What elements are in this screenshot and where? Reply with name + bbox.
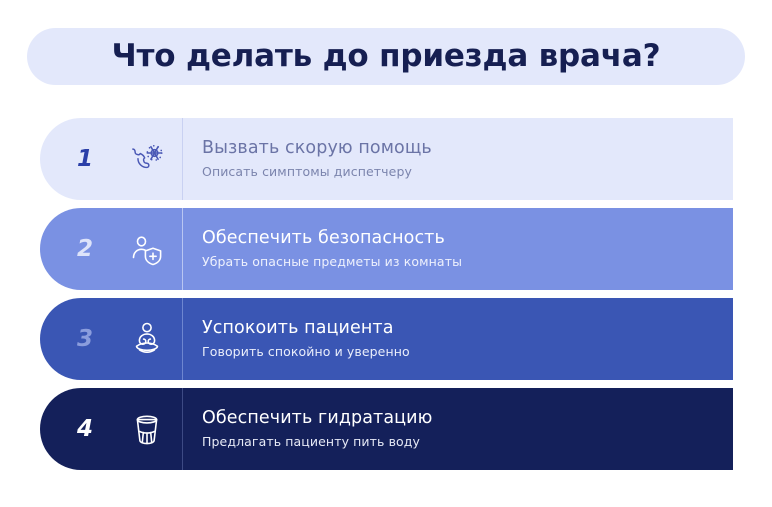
step-row[interactable]: 4Обеспечить гидратациюПредлагать пациент…: [40, 388, 733, 470]
step-title: Обеспечить гидратацию: [202, 410, 733, 428]
meditation-lotus-icon: [127, 319, 167, 359]
step-number: 4: [40, 418, 112, 441]
step-number: 2: [40, 238, 112, 261]
step-body: Обеспечить безопасностьУбрать опасные пр…: [183, 230, 733, 269]
step-row[interactable]: 2Обеспечить безопасностьУбрать опасные п…: [40, 208, 733, 290]
step-subtitle: Предлагать пациенту пить воду: [202, 436, 733, 449]
person-shield-plus-icon: [127, 229, 167, 269]
step-subtitle: Убрать опасные предметы из комнаты: [202, 256, 733, 269]
step-icon-cell: [112, 139, 182, 179]
step-subtitle: Говорить спокойно и уверенно: [202, 346, 733, 359]
water-glass-icon: [127, 409, 167, 449]
step-body: Успокоить пациентаГоворить спокойно и ув…: [183, 320, 733, 359]
step-row[interactable]: 1Вызвать скорую помощьОписать симптомы д…: [40, 118, 733, 200]
step-icon-cell: [112, 409, 182, 449]
step-title: Вызвать скорую помощь: [202, 140, 733, 158]
step-number: 1: [40, 148, 112, 171]
step-icon-cell: [112, 319, 182, 359]
title-banner: Что делать до приезда врача?: [27, 28, 745, 85]
step-body: Обеспечить гидратациюПредлагать пациенту…: [183, 410, 733, 449]
step-title: Обеспечить безопасность: [202, 230, 733, 248]
step-number: 3: [40, 328, 112, 351]
step-icon-cell: [112, 229, 182, 269]
step-subtitle: Описать симптомы диспетчеру: [202, 166, 733, 179]
step-row[interactable]: 3Успокоить пациентаГоворить спокойно и у…: [40, 298, 733, 380]
infographic-root: Что делать до приезда врача? 1Вызвать ск…: [0, 0, 772, 507]
step-list: 1Вызвать скорую помощьОписать симптомы д…: [0, 118, 772, 478]
page-title: Что делать до приезда врача?: [112, 41, 661, 72]
step-title: Успокоить пациента: [202, 320, 733, 338]
phone-medical-cross-icon: [127, 139, 167, 179]
step-body: Вызвать скорую помощьОписать симптомы ди…: [183, 140, 733, 179]
